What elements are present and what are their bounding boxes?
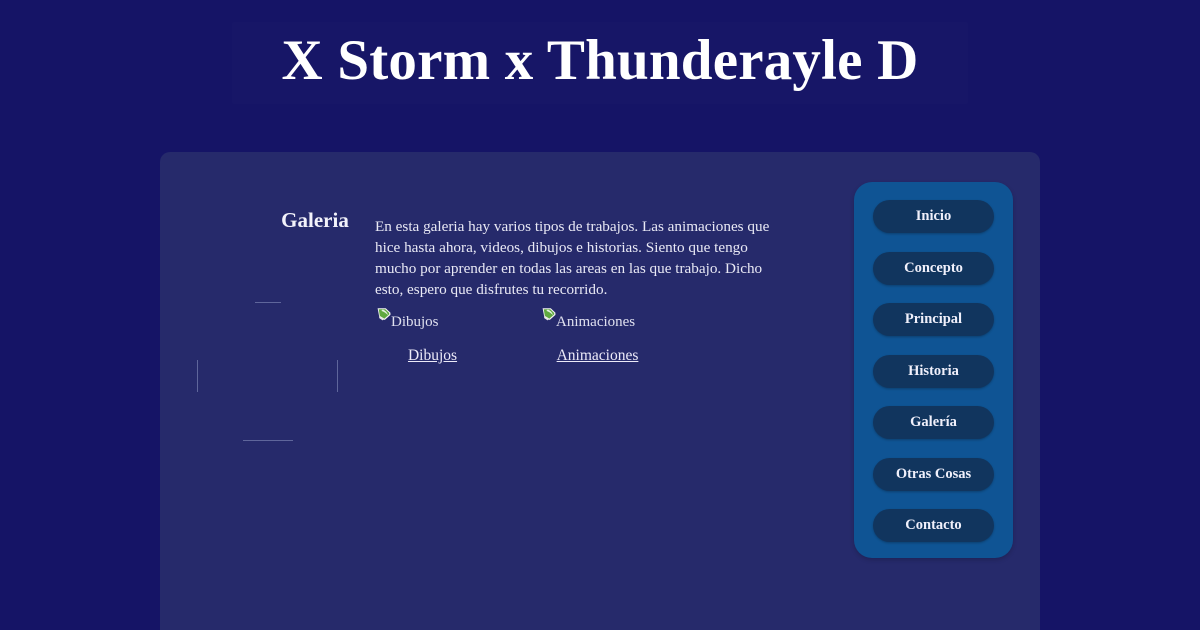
placeholder-edge-right: [337, 360, 338, 392]
image-alt-text: Dibujos: [391, 307, 439, 337]
gallery-item[interactable]: Dibujos Dibujos: [375, 307, 490, 365]
site-header: X Storm x Thunderayle D: [0, 0, 1200, 152]
placeholder-edge-bottom: [243, 440, 293, 441]
broken-image-placeholder[interactable]: Dibujos: [375, 307, 490, 341]
page-title: X Storm x Thunderayle D: [0, 26, 1200, 96]
nav-button-inicio[interactable]: Inicio: [873, 200, 994, 233]
intro-paragraph: En esta galeria hay varios tipos de trab…: [375, 217, 773, 301]
left-column-placeholder-outline: [197, 302, 337, 440]
nav-button-principal[interactable]: Principal: [873, 303, 994, 336]
gallery-link-animaciones[interactable]: Animaciones: [557, 347, 639, 365]
nav-button-concepto[interactable]: Concepto: [873, 252, 994, 285]
gallery-item-list: Dibujos Dibujos Animaciones Animaciones: [375, 307, 795, 365]
nav-button-otras-cosas[interactable]: Otras Cosas: [873, 458, 994, 491]
nav-button-historia[interactable]: Historia: [873, 355, 994, 388]
nav-button-galeria[interactable]: Galería: [873, 406, 994, 439]
gallery-item[interactable]: Animaciones Animaciones: [540, 307, 655, 365]
broken-image-placeholder[interactable]: Animaciones: [540, 307, 655, 341]
nav-button-contacto[interactable]: Contacto: [873, 509, 994, 542]
placeholder-edge-left: [197, 360, 198, 392]
gallery-link-dibujos[interactable]: Dibujos: [408, 347, 457, 365]
sidebar-nav: Inicio Concepto Principal Historia Galer…: [854, 182, 1013, 558]
placeholder-edge-top: [255, 302, 281, 303]
image-alt-text: Animaciones: [556, 307, 635, 337]
